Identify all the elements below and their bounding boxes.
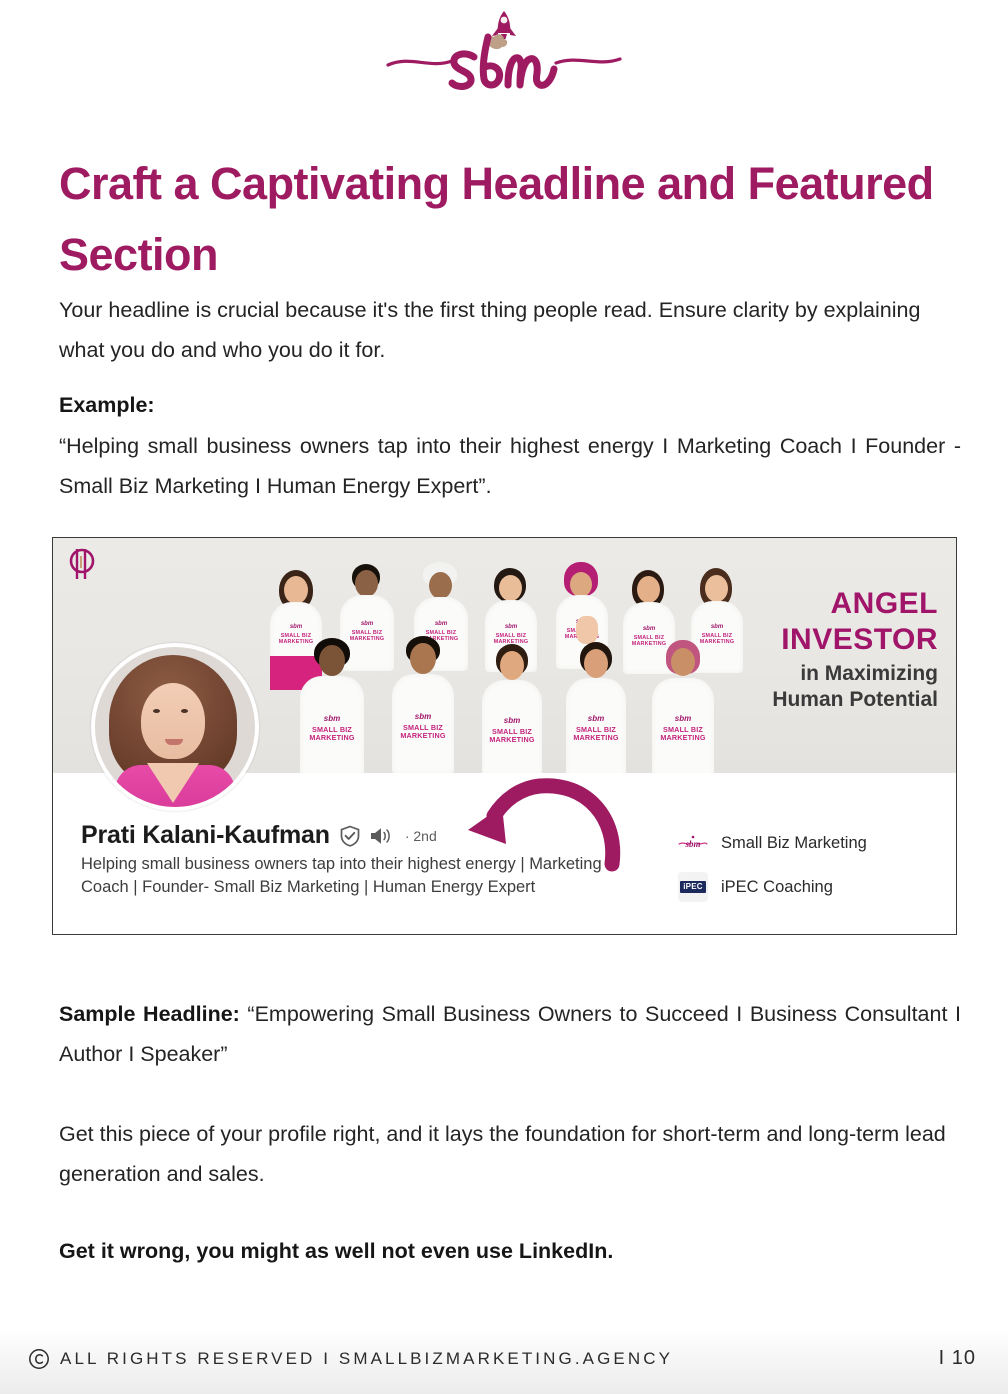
page-title: Craft a Captivating Headline and Feature… [59, 148, 939, 290]
profile-name: Prati Kalani-Kaufman [81, 821, 330, 850]
sample-headline-label: Sample Headline: [59, 1002, 240, 1026]
copyright-icon [28, 1348, 50, 1370]
example-section: Example: “Helping small business owners … [59, 388, 961, 506]
banner-headline: ANGEL INVESTOR in Maximizing Human Poten… [678, 586, 938, 714]
verified-shield-icon [339, 825, 361, 847]
company-list: sbm Small Biz Marketing iPEC iPEC Coachi… [678, 821, 938, 909]
page-number: I 10 [939, 1347, 976, 1370]
company-name: iPEC Coaching [721, 878, 833, 897]
ipec-logo-icon: iPEC [678, 872, 708, 902]
ipec-logo-text: iPEC [680, 881, 705, 893]
curved-arrow-icon [462, 772, 622, 872]
example-quote: “Helping small business owners tap into … [59, 426, 961, 506]
final-statement: Get it wrong, you might as well not even… [59, 1234, 961, 1268]
circle-monogram-icon [65, 546, 99, 586]
footer-text: ALL RIGHTS RESERVED I SMALLBIZMARKETING.… [60, 1349, 673, 1369]
profile-name-row: Prati Kalani-Kaufman · 2nd [81, 821, 437, 850]
example-label: Example: [59, 388, 961, 422]
document-page: Craft a Captivating Headline and Feature… [0, 0, 1008, 1394]
footer-copyright: ALL RIGHTS RESERVED I SMALLBIZMARKETING.… [28, 1348, 673, 1370]
linkedin-profile-screenshot: sbm SMALL BIZMARKETING sbm SMALL BIZMARK… [52, 537, 957, 935]
sbm-logo-icon [384, 9, 624, 95]
sample-headline-paragraph: Sample Headline: “Empowering Small Busin… [59, 994, 961, 1074]
speaker-icon [370, 826, 394, 846]
page-footer: ALL RIGHTS RESERVED I SMALLBIZMARKETING.… [0, 1328, 1008, 1394]
banner-subline2: Human Potential [678, 686, 938, 714]
svg-text:sbm: sbm [684, 839, 700, 849]
sbm-logo-icon: sbm [678, 828, 708, 858]
intro-paragraph: Your headline is crucial because it's th… [59, 290, 961, 370]
closing-paragraph: Get this piece of your profile right, an… [59, 1114, 961, 1194]
company-name: Small Biz Marketing [721, 834, 867, 853]
list-item[interactable]: iPEC iPEC Coaching [678, 865, 938, 909]
list-item[interactable]: sbm Small Biz Marketing [678, 821, 938, 865]
connection-degree: · 2nd [405, 828, 437, 844]
banner-headline-line1: ANGEL [678, 586, 938, 622]
banner-subline1: in Maximizing [678, 660, 938, 688]
banner-headline-line2: INVESTOR [678, 622, 938, 658]
brand-logo [0, 6, 1008, 98]
avatar [91, 643, 259, 811]
